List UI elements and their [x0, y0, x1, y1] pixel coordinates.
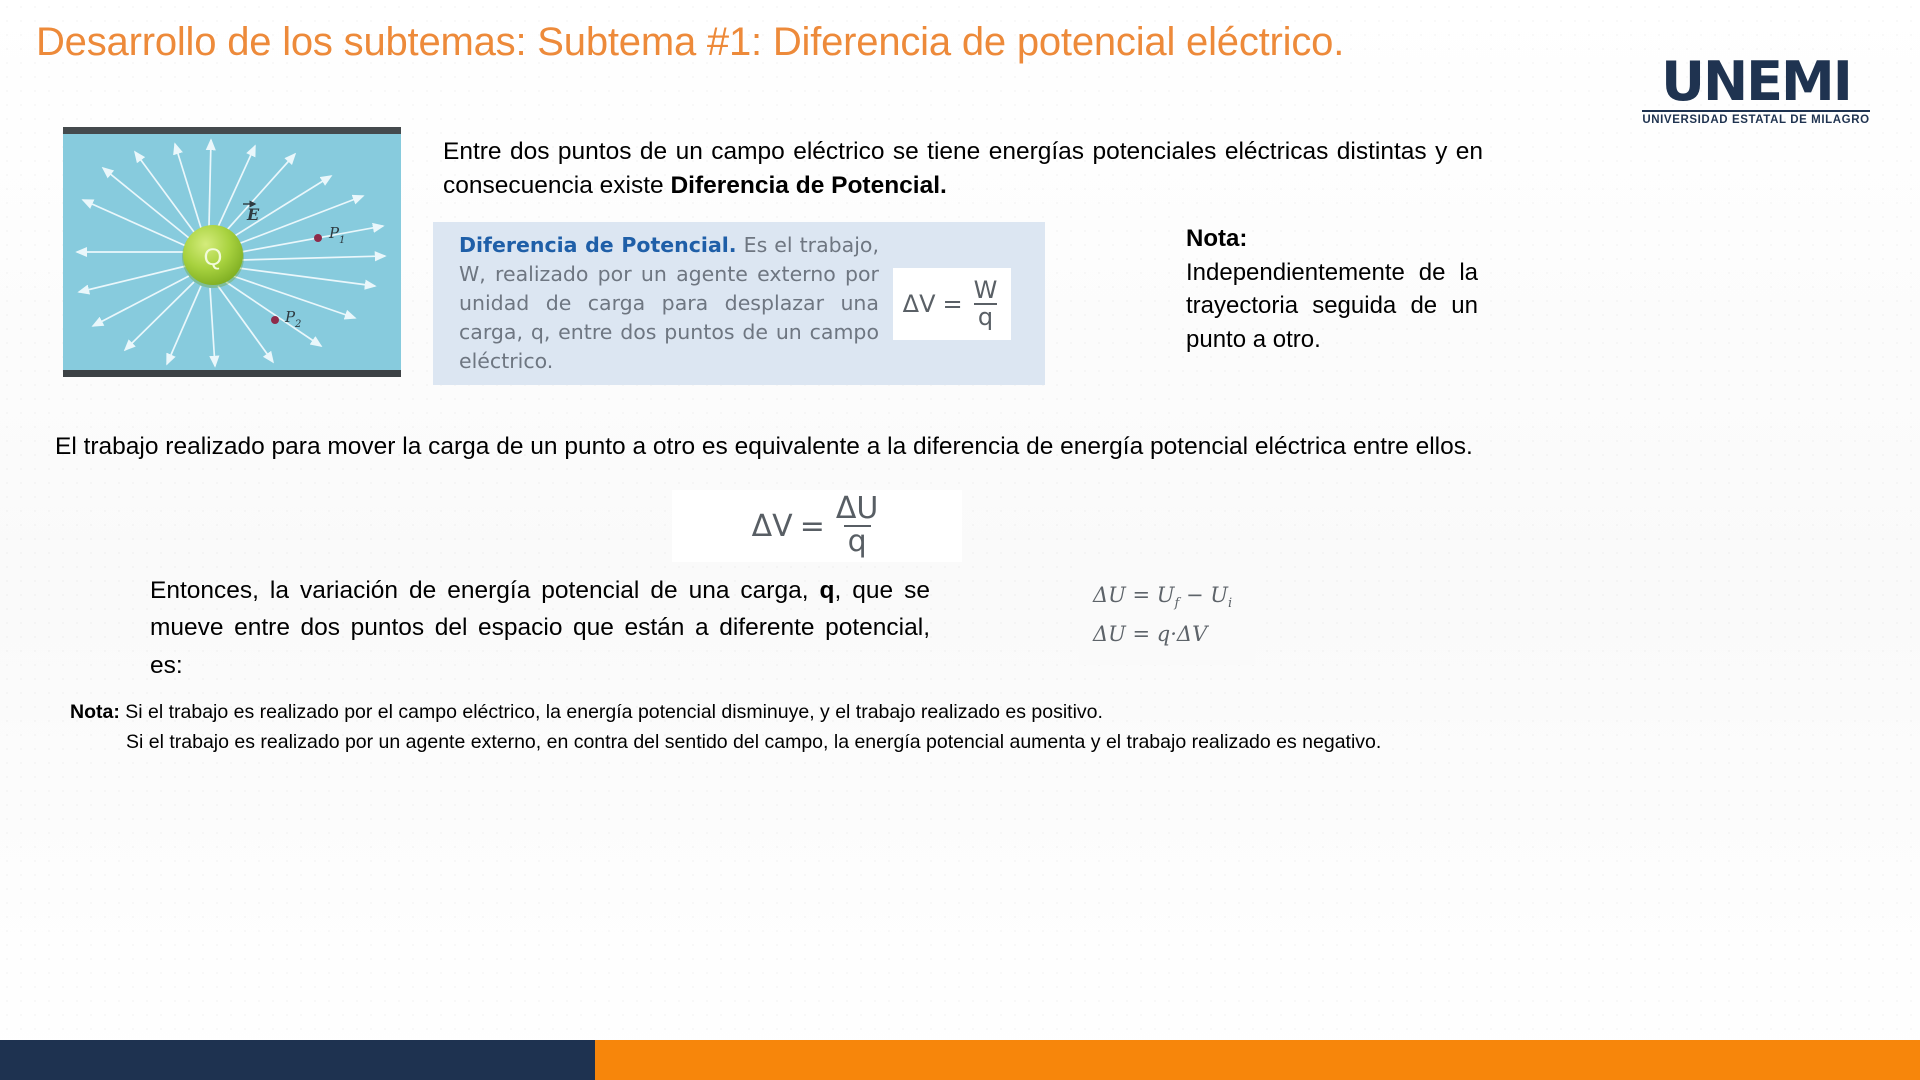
- mid-formula-equals: =: [800, 509, 825, 544]
- unemi-logo: UNEMI UNIVERSIDAD ESTATAL DE MILAGRO: [1636, 56, 1876, 128]
- svg-text:E: E: [246, 205, 260, 224]
- mid-paragraph: El trabajo realizado para mover la carga…: [55, 430, 1480, 464]
- field-lines-svg: Q E P 1 P 2: [63, 134, 401, 370]
- formula-du-q-dv: ΔU = q·ΔV: [1093, 616, 1241, 653]
- du-lhs: ΔU = U: [1093, 583, 1175, 607]
- definition-text: Diferencia de Potencial. Es el trabajo, …: [459, 231, 879, 377]
- logo-subtitle: UNIVERSIDAD ESTATAL DE MILAGRO: [1642, 110, 1869, 126]
- du-mid: − U: [1179, 583, 1228, 607]
- logo-wordmark: UNEMI: [1636, 56, 1876, 107]
- svg-text:2: 2: [294, 319, 301, 330]
- lower-paragraph-bold: q: [820, 577, 835, 604]
- mid-formula-fraction: ΔU q: [832, 494, 882, 557]
- formula-du-uf-ui: ΔU = Uf − Ui: [1093, 577, 1241, 616]
- nota-right-heading: Nota:: [1186, 222, 1478, 256]
- electric-field-lines-figure: Q E P 1 P 2: [63, 127, 401, 377]
- formula-dv-du-q: ΔV = ΔU q: [752, 494, 883, 557]
- nota-bottom-line1: Si el trabajo es realizado por el campo …: [120, 701, 1103, 723]
- formula-dv-w-q: ΔV = W q: [903, 278, 1002, 329]
- definition-formula-box: ΔV = W q: [893, 268, 1011, 340]
- nota-right-text: Independientemente de la trayectoria seg…: [1186, 259, 1478, 353]
- lower-paragraph-part1: Entonces, la variación de energía potenc…: [150, 577, 820, 604]
- du-sub-i: i: [1228, 596, 1232, 611]
- lower-paragraph: Entonces, la variación de energía potenc…: [150, 572, 930, 684]
- svg-text:1: 1: [339, 235, 345, 246]
- page-title: Desarrollo de los subtemas: Subtema #1: …: [36, 16, 1456, 68]
- nota-bottom-heading: Nota:: [70, 701, 120, 723]
- formula-lhs: ΔV: [903, 290, 936, 318]
- definition-lead: Diferencia de Potencial.: [459, 233, 737, 257]
- slide-canvas: Desarrollo de los subtemas: Subtema #1: …: [0, 0, 1920, 1080]
- mid-formula-denominator: q: [844, 525, 871, 558]
- mid-formula-box: ΔV = ΔU q: [672, 490, 962, 562]
- footer-bar-orange: [595, 1040, 1920, 1080]
- nota-right-block: Nota: Independientemente de la trayector…: [1186, 222, 1478, 356]
- formula-numerator: W: [970, 278, 1002, 302]
- mid-formula-numerator: ΔU: [832, 494, 882, 525]
- mid-formula-lhs: ΔV: [752, 509, 793, 544]
- svg-text:Q: Q: [204, 244, 223, 271]
- formula-equals: =: [943, 290, 963, 318]
- intro-text: Entre dos puntos de un campo eléctrico s…: [443, 138, 1483, 199]
- lower-formula-block: ΔU = Uf − Ui ΔU = q·ΔV: [1079, 565, 1255, 665]
- nota-bottom-block: Nota: Si el trabajo es realizado por el …: [70, 697, 1540, 757]
- formula-denominator: q: [974, 303, 997, 329]
- footer-bar-navy: [0, 1040, 595, 1080]
- formula-fraction: W q: [970, 278, 1002, 329]
- intro-bold-term: Diferencia de Potencial.: [670, 172, 946, 199]
- nota-bottom-line2: Si el trabajo es realizado por un agente…: [70, 727, 1540, 757]
- definition-callout: Diferencia de Potencial. Es el trabajo, …: [433, 222, 1045, 385]
- intro-paragraph: Entre dos puntos de un campo eléctrico s…: [443, 135, 1483, 203]
